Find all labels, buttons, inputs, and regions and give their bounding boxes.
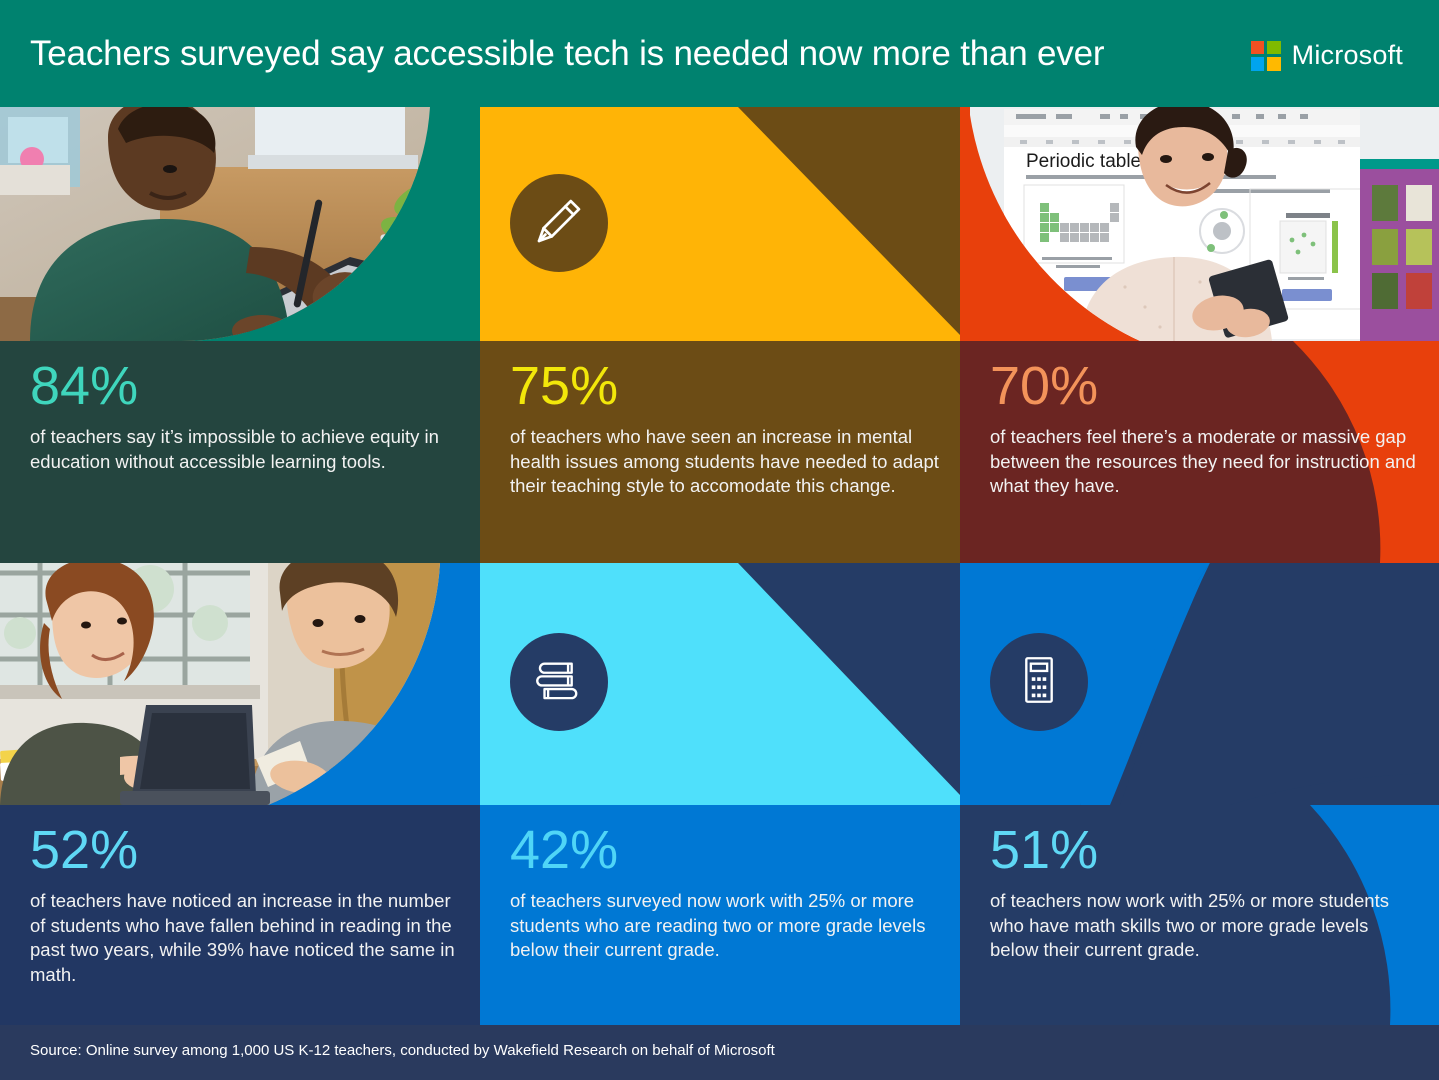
microsoft-wordmark: Microsoft <box>1292 40 1403 71</box>
microsoft-logo-squares <box>1251 41 1281 71</box>
header-bar: Teachers surveyed say accessible tech is… <box>0 0 1439 107</box>
stat-card-84: 84% of teachers say it’s impossible to a… <box>0 341 480 563</box>
stat-description: of teachers say it’s impossible to achie… <box>30 425 462 474</box>
stat-card-52: 52% of teachers have noticed an increase… <box>0 805 480 1025</box>
source-note: Source: Online survey among 1,000 US K-1… <box>30 1042 775 1059</box>
stat-percent: 51% <box>990 823 1098 877</box>
stat-percent: 84% <box>30 359 138 413</box>
stat-percent: 52% <box>30 823 138 877</box>
tile-teacher-photo: Periodic table <box>960 107 1439 341</box>
logo-square-red <box>1251 41 1265 55</box>
stat-description: of teachers surveyed now work with 25% o… <box>510 889 942 963</box>
calculator-icon <box>1010 651 1068 714</box>
teacher-photo: Periodic table <box>960 107 1439 341</box>
logo-square-green <box>1267 41 1281 55</box>
tile-pencil-icon <box>480 107 960 341</box>
classroom-photo <box>0 563 480 805</box>
stat-card-75: 75% of teachers who have seen an increas… <box>480 341 960 563</box>
tile-student-photo <box>0 107 480 341</box>
microsoft-logo: Microsoft <box>1251 40 1403 71</box>
tile-classroom-photo <box>0 563 480 805</box>
stat-percent: 70% <box>990 359 1098 413</box>
stat-percent: 75% <box>510 359 618 413</box>
pencil-icon <box>530 192 588 255</box>
calculator-icon-badge <box>990 633 1088 731</box>
infographic-page: Teachers surveyed say accessible tech is… <box>0 0 1439 1080</box>
stat-description: of teachers now work with 25% or more st… <box>990 889 1421 963</box>
tile-calculator-icon <box>960 563 1439 805</box>
footer-bar: Source: Online survey among 1,000 US K-1… <box>0 1025 1439 1080</box>
stat-description: of teachers feel there’s a moderate or m… <box>990 425 1421 499</box>
stat-percent: 42% <box>510 823 618 877</box>
stat-card-42: 42% of teachers surveyed now work with 2… <box>480 805 960 1025</box>
student-photo <box>0 107 480 341</box>
svg-text:Periodic table: Periodic table <box>1026 151 1141 172</box>
books-icon <box>530 651 588 714</box>
books-icon-badge <box>510 633 608 731</box>
stat-card-70: 70% of teachers feel there’s a moderate … <box>960 341 1439 563</box>
logo-square-blue <box>1251 57 1265 71</box>
stat-card-51: 51% of teachers now work with 25% or mor… <box>960 805 1439 1025</box>
pencil-icon-badge <box>510 174 608 272</box>
stat-description: of teachers who have seen an increase in… <box>510 425 942 499</box>
tile-books-icon <box>480 563 960 805</box>
logo-square-yellow <box>1267 57 1281 71</box>
stat-description: of teachers have noticed an increase in … <box>30 889 462 987</box>
page-title: Teachers surveyed say accessible tech is… <box>30 34 1104 74</box>
